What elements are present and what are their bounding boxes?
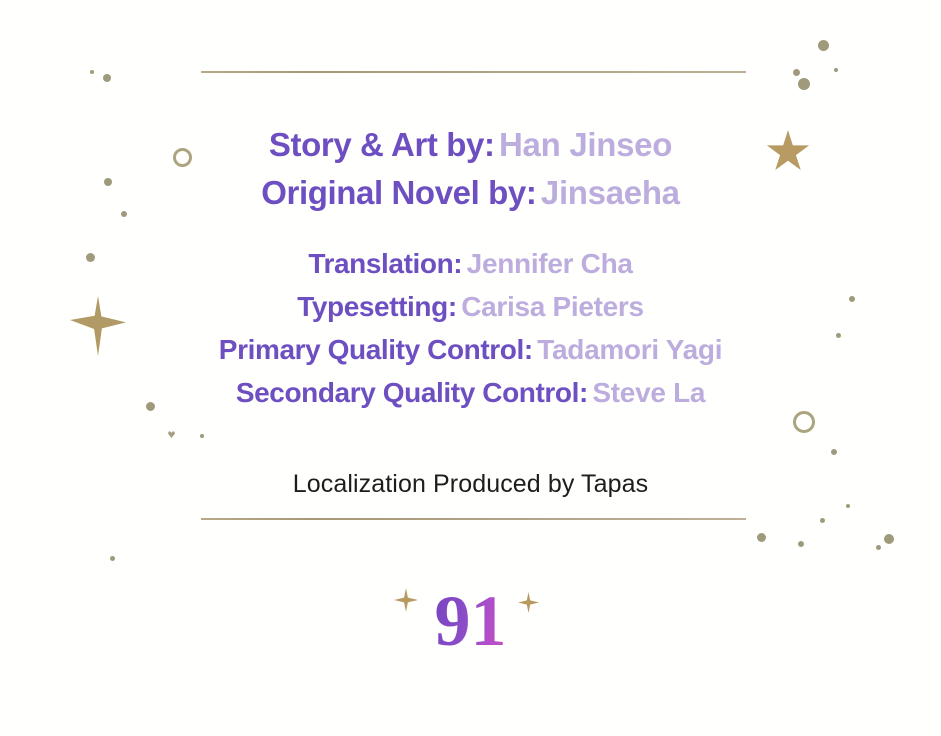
dot-icon (831, 449, 837, 455)
dot-icon (200, 434, 204, 438)
credit-label: Story & Art by: (269, 126, 495, 163)
divider-top (201, 71, 746, 73)
credit-name: Han Jinseo (499, 126, 672, 163)
credit-label: Primary Quality Control: (219, 334, 533, 365)
page-number: 91 (435, 585, 507, 657)
credit-name: Tadamori Yagi (537, 334, 722, 365)
credit-line-original-novel: Original Novel by: Jinsaeha (0, 172, 941, 220)
dot-icon (876, 545, 881, 550)
credit-name: Jinsaeha (541, 174, 680, 211)
credit-name: Jennifer Cha (467, 248, 633, 279)
credit-label: Original Novel by: (261, 174, 536, 211)
credit-label: Typesetting: (297, 291, 457, 322)
dot-icon (103, 74, 111, 82)
credit-label: Secondary Quality Control: (236, 377, 588, 408)
credit-label: Translation: (308, 248, 462, 279)
dot-icon (757, 533, 766, 542)
dot-icon (798, 78, 810, 90)
comic-credits-page: Story & Art by: Han Jinseo Original Nove… (0, 0, 941, 736)
credits-sub: Translation: Jennifer Cha Typesetting: C… (0, 245, 941, 417)
dot-icon (818, 40, 829, 51)
dot-icon (820, 518, 825, 523)
credit-line-typesetting: Typesetting: Carisa Pieters (0, 288, 941, 331)
credit-line-primary-qc: Primary Quality Control: Tadamori Yagi (0, 331, 941, 374)
dot-icon (110, 556, 115, 561)
divider-bottom (201, 518, 746, 520)
dot-icon (793, 69, 800, 76)
dot-icon (884, 534, 894, 544)
localization-note: Localization Produced by Tapas (0, 470, 941, 499)
credit-name: Carisa Pieters (461, 291, 644, 322)
credit-line-secondary-qc: Secondary Quality Control: Steve La (0, 374, 941, 417)
credit-line-translation: Translation: Jennifer Cha (0, 245, 941, 288)
credit-name: Steve La (592, 377, 705, 408)
page-number-container: 91 (0, 585, 941, 657)
dot-icon (90, 70, 94, 74)
heart-icon (168, 431, 175, 438)
credit-line-story-art: Story & Art by: Han Jinseo (0, 124, 941, 172)
dot-icon (834, 68, 838, 72)
dot-icon (798, 541, 804, 547)
credits-main: Story & Art by: Han Jinseo Original Nove… (0, 124, 941, 220)
dot-icon (846, 504, 850, 508)
